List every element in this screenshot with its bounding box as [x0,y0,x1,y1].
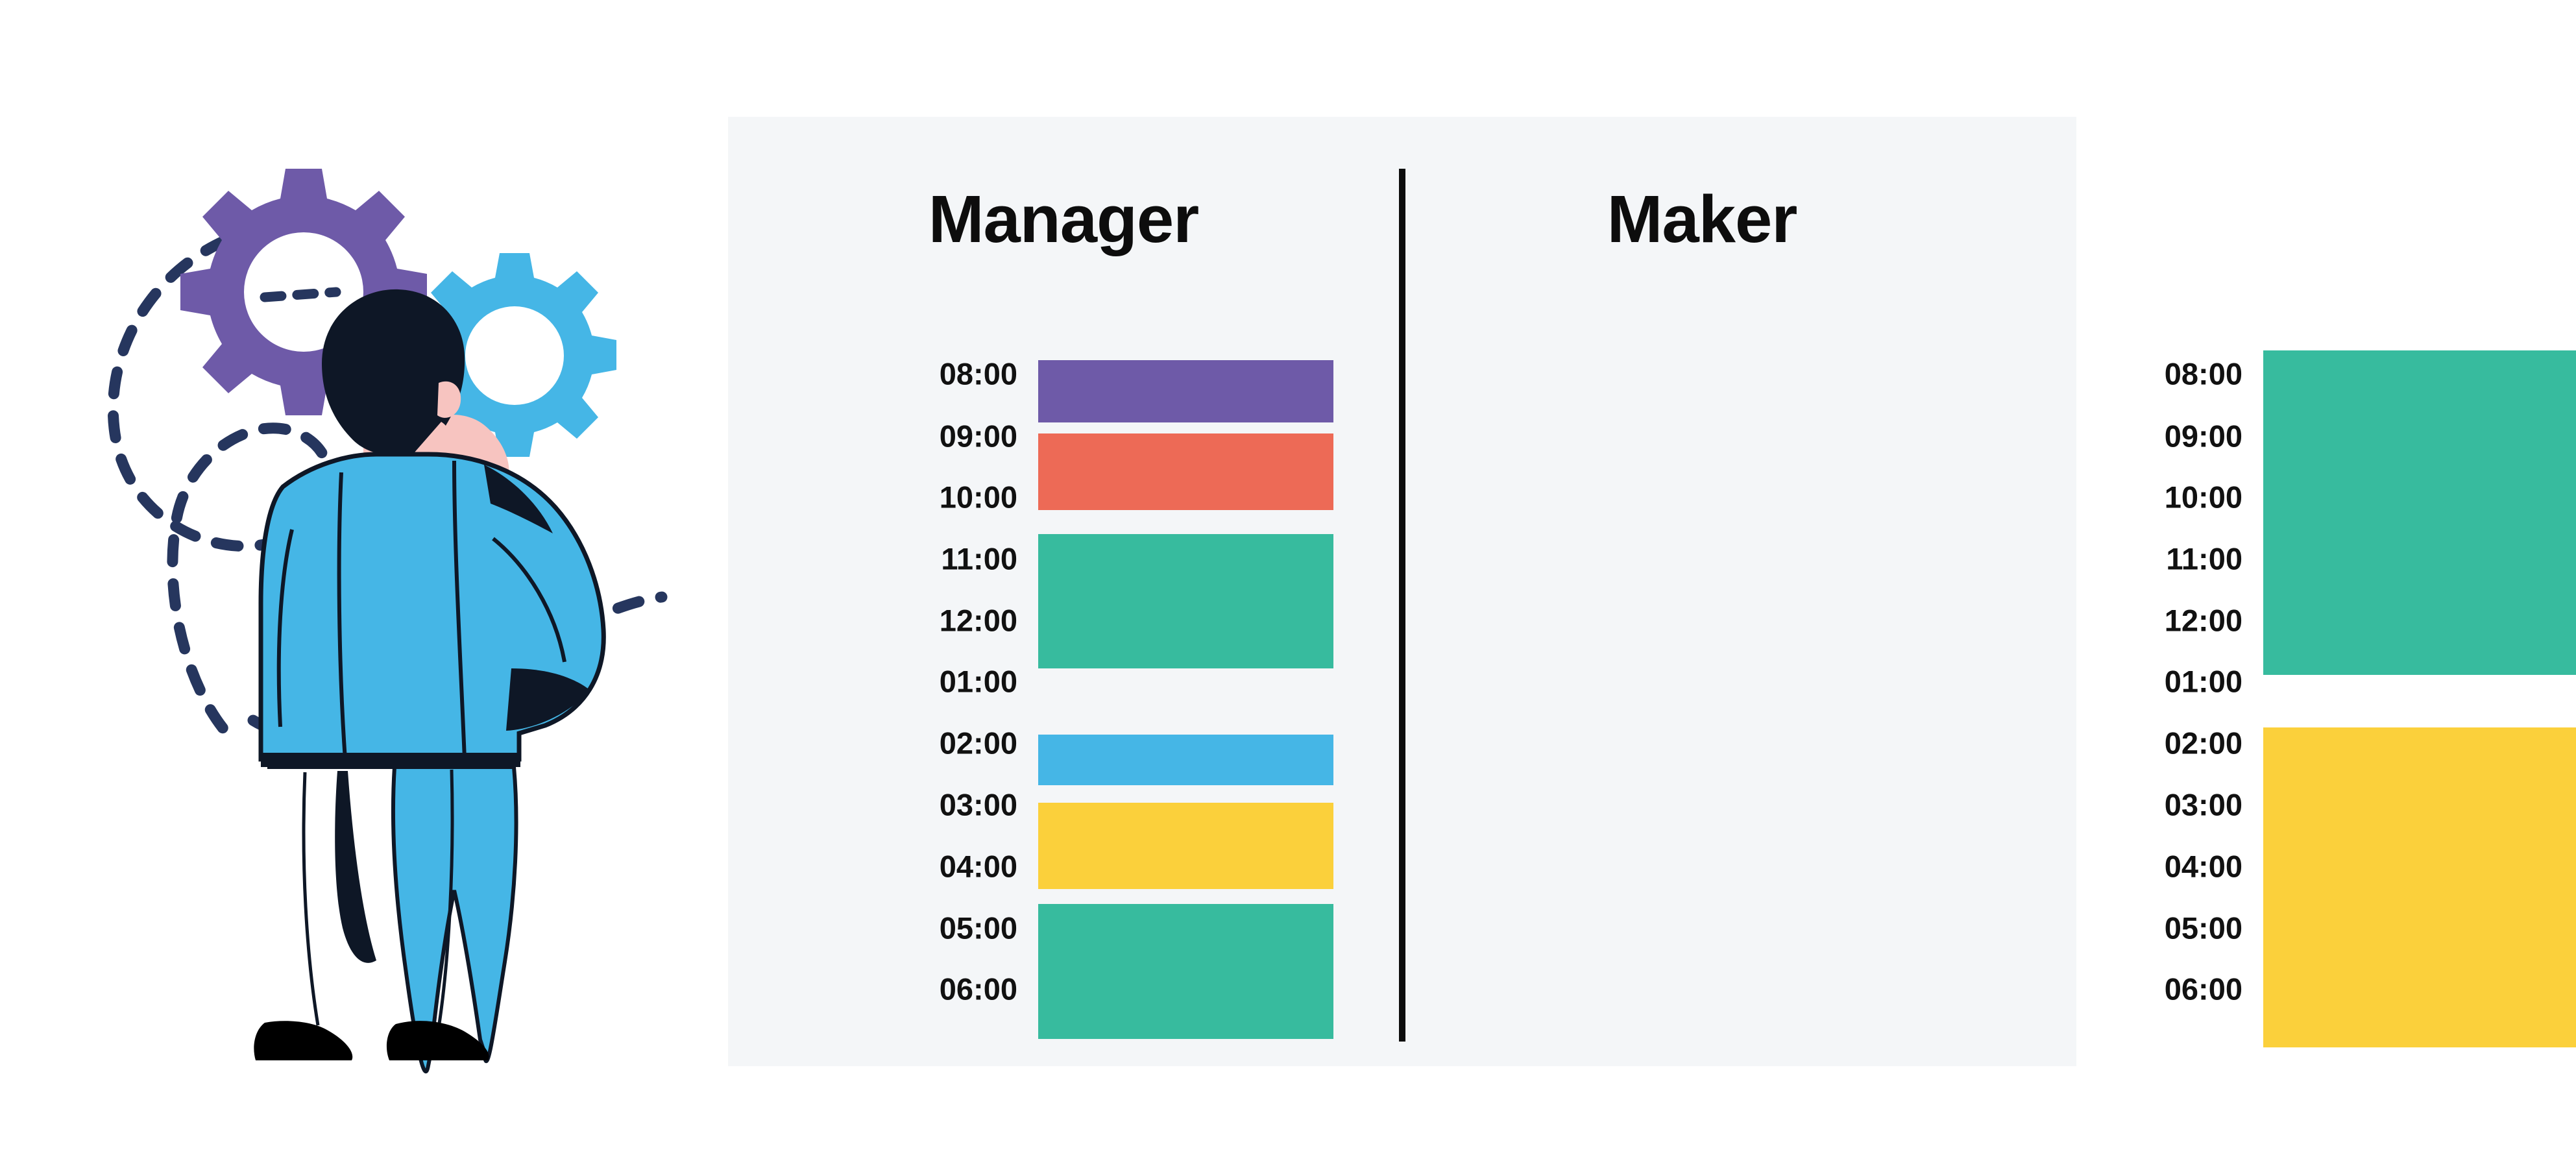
meeting-block-3[interactable] [1038,534,1333,668]
time-label: 06:00 [888,971,1017,1006]
time-label: 05:00 [2113,910,2242,945]
time-label: 10:00 [888,479,1017,515]
time-label: 10:00 [2113,479,2242,515]
focus-block-2[interactable] [2263,727,2576,1047]
time-label: 09:00 [888,418,1017,454]
time-label: 04:00 [2113,849,2242,884]
manager-column-title: Manager [728,184,1399,254]
column-divider [1399,169,1405,1042]
meeting-block-6[interactable] [1038,904,1333,1039]
meeting-block-5[interactable] [1038,803,1333,890]
time-label: 03:00 [2113,787,2242,822]
maker-schedule: 08:00 09:00 10:00 11:00 12:00 01:00 02:0… [2113,360,2576,1048]
schedule-card: Manager 08:00 09:00 10:00 11:00 12:00 01… [728,117,2076,1066]
shoe-right-shape [387,1021,489,1060]
manager-column: Manager 08:00 09:00 10:00 11:00 12:00 01… [728,117,1399,1066]
meeting-block-4[interactable] [1038,735,1333,785]
time-label: 09:00 [2113,418,2242,454]
meeting-block-2[interactable] [1038,433,1333,510]
time-label: 03:00 [888,787,1017,822]
time-label: 11:00 [2113,541,2242,577]
time-label: 12:00 [2113,602,2242,638]
time-label: 05:00 [888,910,1017,945]
time-label: 02:00 [2113,726,2242,761]
thinking-businessman-illustration [91,149,714,1084]
maker-column-title: Maker [1367,184,2037,254]
time-label: 12:00 [888,602,1017,638]
meeting-block-1[interactable] [1038,360,1333,422]
time-label: 01:00 [888,664,1017,700]
trouser-crease [335,771,376,963]
maker-column: Maker 08:00 09:00 10:00 11:00 12:00 01:0… [1405,117,2076,1066]
time-label: 01:00 [2113,664,2242,700]
manager-blocks [1038,360,1333,1048]
time-label: 06:00 [2113,971,2242,1006]
time-label: 11:00 [888,541,1017,577]
maker-blocks [2263,360,2576,1048]
belt-shape [261,753,520,767]
focus-block-1[interactable] [2263,350,2576,675]
time-label: 02:00 [888,726,1017,761]
time-label: 08:00 [2113,356,2242,392]
shoe-left-shape [254,1021,352,1060]
page-root: Manager 08:00 09:00 10:00 11:00 12:00 01… [0,0,2576,1159]
manager-schedule: 08:00 09:00 10:00 11:00 12:00 01:00 02:0… [888,360,1342,1048]
time-label: 04:00 [888,849,1017,884]
time-label: 08:00 [888,356,1017,392]
